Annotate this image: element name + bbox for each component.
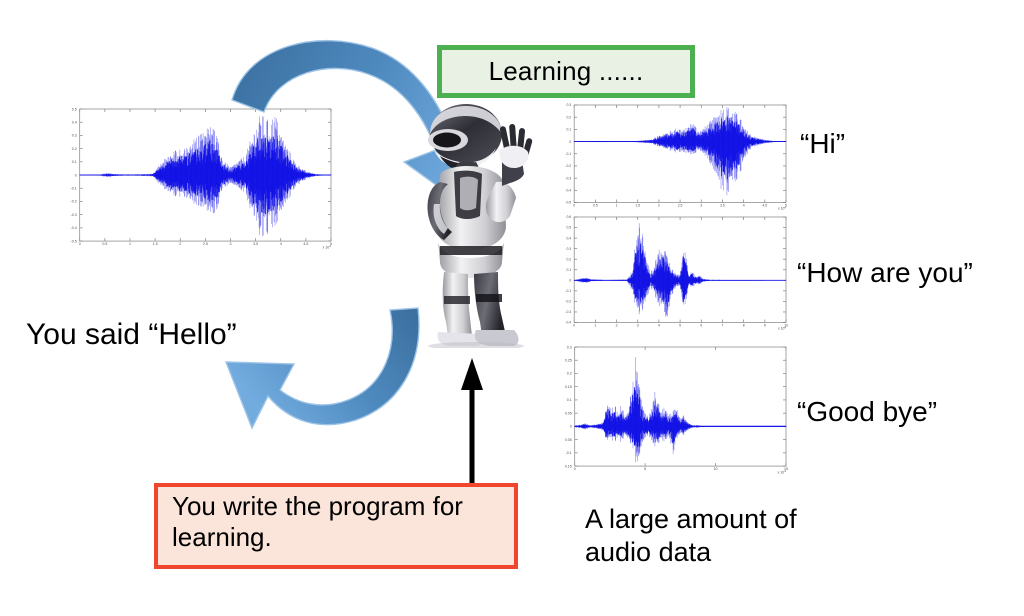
svg-text:4: 4	[658, 323, 660, 327]
svg-text:4: 4	[280, 242, 282, 246]
hi-label: “Hi”	[800, 128, 845, 160]
learning-callout: Learning ......	[437, 45, 695, 98]
svg-text:2: 2	[179, 242, 181, 246]
svg-text:-0.4: -0.4	[565, 321, 571, 325]
svg-text:3.5: 3.5	[253, 242, 258, 246]
slide-canvas: 0.50.40.30.20.10-0.1-0.2-0.3-0.4-0.500.5…	[0, 0, 1024, 616]
svg-text:0.5: 0.5	[566, 226, 571, 230]
svg-text:3: 3	[229, 242, 231, 246]
svg-text:0.5: 0.5	[102, 242, 107, 246]
svg-text:x 104: x 104	[323, 244, 332, 249]
curved-arrow-left-icon	[226, 308, 419, 428]
svg-text:0.4: 0.4	[566, 236, 571, 240]
svg-text:0.2: 0.2	[567, 372, 572, 376]
svg-text:0: 0	[75, 173, 77, 177]
svg-text:5: 5	[644, 467, 646, 471]
learning-callout-label: Learning ......	[489, 56, 644, 87]
svg-text:0.2: 0.2	[566, 257, 571, 261]
svg-text:-0.1: -0.1	[565, 152, 571, 156]
svg-text:1: 1	[616, 203, 618, 207]
svg-text:0.05: 0.05	[565, 411, 572, 415]
svg-text:-0.05: -0.05	[565, 438, 572, 442]
hi-waveform-svg: 0.30.20.10-0.1-0.2-0.3-0.4-0.500.511.522…	[565, 100, 790, 210]
you-said-label: You said “Hello”	[26, 318, 237, 352]
svg-text:-0.1: -0.1	[566, 451, 572, 455]
svg-text:0.2: 0.2	[72, 147, 77, 151]
svg-text:0: 0	[79, 242, 81, 246]
how-are-you-label: “How are you”	[797, 257, 973, 289]
svg-text:1: 1	[594, 323, 596, 327]
svg-text:x 104: x 104	[778, 469, 787, 474]
svg-text:1: 1	[129, 242, 131, 246]
good-bye-waveform-plot: 0.30.250.20.150.10.050-0.05-0.1-0.150510…	[565, 342, 790, 474]
svg-text:4.5: 4.5	[762, 203, 767, 207]
program-callout: You write the program for learning.	[154, 483, 518, 569]
svg-text:-0.2: -0.2	[565, 300, 571, 304]
svg-text:0.1: 0.1	[72, 160, 77, 164]
svg-text:4: 4	[743, 203, 745, 207]
svg-text:-0.3: -0.3	[565, 176, 571, 180]
svg-text:-0.15: -0.15	[565, 464, 572, 468]
svg-text:5: 5	[679, 323, 681, 327]
svg-text:-0.4: -0.4	[71, 226, 77, 230]
svg-text:2: 2	[658, 203, 660, 207]
svg-text:-0.4: -0.4	[565, 189, 571, 193]
good-bye-waveform-svg: 0.30.250.20.150.10.050-0.05-0.1-0.150510…	[565, 342, 790, 474]
svg-text:-0.3: -0.3	[565, 310, 571, 314]
svg-text:0: 0	[570, 425, 572, 429]
program-callout-label: You write the program for learning.	[172, 491, 502, 552]
svg-text:x 104: x 104	[778, 325, 786, 330]
svg-text:6: 6	[700, 323, 702, 327]
svg-text:7: 7	[722, 323, 724, 327]
svg-text:-0.2: -0.2	[565, 164, 571, 168]
how-are-you-waveform-svg: 0.60.50.40.30.20.10-0.1-0.2-0.3-0.401234…	[565, 212, 790, 330]
svg-text:2.5: 2.5	[203, 242, 208, 246]
svg-text:0.1: 0.1	[567, 398, 572, 402]
svg-text:0.6: 0.6	[566, 215, 571, 219]
svg-text:-0.5: -0.5	[565, 201, 571, 205]
svg-text:3.5: 3.5	[720, 203, 725, 207]
svg-text:0: 0	[573, 323, 575, 327]
svg-text:0.1: 0.1	[566, 268, 571, 272]
svg-text:4.5: 4.5	[303, 242, 308, 246]
how-are-you-waveform-plot: 0.60.50.40.30.20.10-0.1-0.2-0.3-0.401234…	[565, 212, 790, 330]
svg-text:1.5: 1.5	[635, 203, 640, 207]
hi-waveform-plot: 0.30.20.10-0.1-0.2-0.3-0.4-0.500.511.522…	[565, 100, 790, 210]
svg-text:0.3: 0.3	[567, 345, 572, 349]
svg-text:8: 8	[743, 323, 745, 327]
svg-text:0.4: 0.4	[72, 120, 77, 124]
svg-text:9: 9	[764, 323, 766, 327]
svg-text:0.25: 0.25	[565, 358, 572, 362]
up-arrow-icon	[461, 358, 483, 483]
svg-text:10: 10	[714, 467, 718, 471]
svg-text:0: 0	[573, 203, 575, 207]
svg-text:x 104: x 104	[778, 205, 786, 210]
audio-amount-label: A large amount of audio data	[585, 503, 797, 569]
svg-text:0.3: 0.3	[72, 134, 77, 138]
input-waveform-plot: 0.50.40.30.20.10-0.1-0.2-0.3-0.4-0.500.5…	[70, 104, 335, 249]
svg-text:-0.5: -0.5	[71, 239, 77, 243]
svg-text:2: 2	[616, 323, 618, 327]
svg-text:3: 3	[700, 203, 702, 207]
svg-text:1.5: 1.5	[153, 242, 158, 246]
svg-text:0.15: 0.15	[565, 385, 572, 389]
good-bye-label: “Good bye”	[797, 396, 937, 428]
svg-text:0: 0	[569, 279, 571, 283]
svg-text:0.2: 0.2	[566, 115, 571, 119]
svg-text:-0.1: -0.1	[565, 289, 571, 293]
svg-text:2.5: 2.5	[678, 203, 683, 207]
svg-text:0.1: 0.1	[566, 128, 571, 132]
svg-text:0.5: 0.5	[593, 203, 598, 207]
input-waveform-svg: 0.50.40.30.20.10-0.1-0.2-0.3-0.4-0.500.5…	[70, 104, 335, 249]
svg-text:3: 3	[637, 323, 639, 327]
svg-text:0.3: 0.3	[566, 103, 571, 107]
svg-text:0.5: 0.5	[72, 107, 77, 111]
svg-text:0: 0	[574, 467, 576, 471]
svg-text:-0.3: -0.3	[71, 213, 77, 217]
svg-text:-0.2: -0.2	[71, 200, 77, 204]
svg-text:0: 0	[569, 140, 571, 144]
svg-text:-0.1: -0.1	[71, 187, 77, 191]
svg-text:0.3: 0.3	[566, 247, 571, 251]
robot-icon	[410, 100, 540, 348]
